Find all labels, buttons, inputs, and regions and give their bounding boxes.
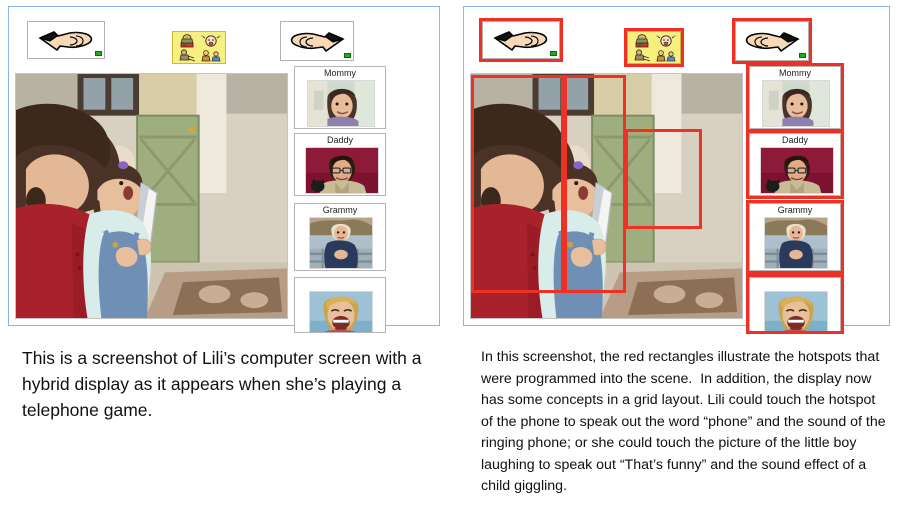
hotspot-symbol-concept-grid[interactable]	[624, 28, 684, 67]
right-panel-caption: In this screenshot, the red rectangles i…	[481, 347, 889, 498]
hotspot-lili-in-scene[interactable]	[564, 75, 626, 293]
telephone-game-scene-photo[interactable]	[15, 73, 288, 319]
hotspot-grid-card-daddy[interactable]	[746, 130, 844, 199]
symbol-person-kneeling-icon	[175, 49, 199, 63]
grid-card-label: Grammy	[295, 205, 385, 216]
green-indicator-icon	[344, 53, 351, 58]
grid-card-label: Daddy	[295, 135, 385, 146]
hotspot-grid-card-mommy[interactable]	[746, 63, 844, 132]
grid-card-grammy[interactable]: Grammy	[294, 203, 386, 271]
symbol-card-concept-grid[interactable]	[172, 31, 226, 64]
symbol-crying-baby-icon	[200, 34, 224, 48]
aac-display-screen-plain: Mommy Daddy	[9, 7, 439, 325]
hotspot-phone-in-scene[interactable]	[625, 129, 702, 229]
scene-artwork	[16, 74, 287, 318]
grid-card-label: Mommy	[295, 68, 385, 79]
hotspot-symbol-pointing-hand-right[interactable]	[732, 18, 812, 64]
grammy-photo	[309, 217, 373, 269]
left-panel-caption: This is a screenshot of Lili’s computer …	[22, 345, 432, 423]
grid-card-laughing-boy[interactable]	[294, 277, 386, 333]
hand-pointing-left-icon	[28, 22, 104, 58]
daddy-photo	[305, 147, 379, 194]
symbol-person-eating-icon	[175, 34, 199, 48]
symbol-card-pointing-hand-left[interactable]	[27, 21, 105, 59]
symbol-children-playing-icon	[200, 49, 224, 63]
aac-display-screen-hotspots: Mommy Daddy	[464, 7, 889, 325]
laughing-boy-photo	[309, 291, 373, 333]
hotspot-symbol-pointing-hand-left[interactable]	[479, 18, 563, 62]
hotspot-mommy-in-scene[interactable]	[471, 75, 564, 293]
green-indicator-icon	[95, 51, 102, 56]
right-figure-panel: Mommy Daddy	[463, 6, 890, 326]
hotspot-grid-card-grammy[interactable]	[746, 200, 844, 274]
symbol-card-pointing-hand-right[interactable]	[280, 21, 354, 61]
hand-pointing-right-icon	[281, 22, 353, 60]
grid-card-daddy[interactable]: Daddy	[294, 133, 386, 196]
grid-card-mommy[interactable]: Mommy	[294, 66, 386, 129]
hotspot-grid-card-laughing-boy[interactable]	[746, 274, 844, 334]
left-figure-panel: Mommy Daddy	[8, 6, 440, 326]
mommy-photo	[307, 80, 375, 127]
